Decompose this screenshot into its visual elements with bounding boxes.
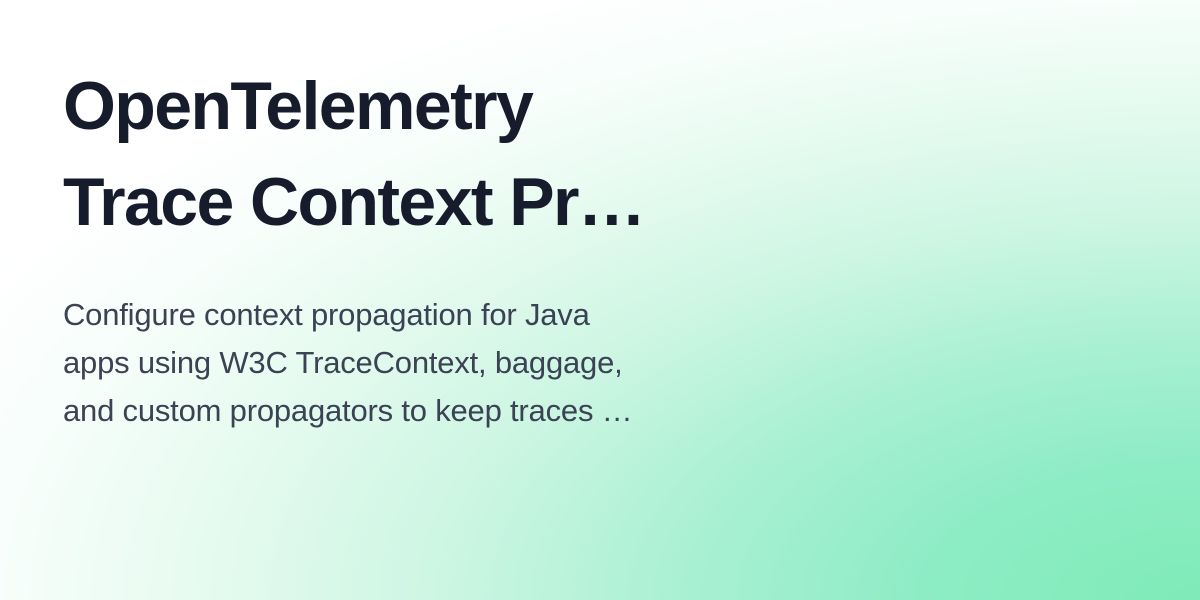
- page-description: Configure context propagation for Java a…: [63, 291, 763, 435]
- page-title: OpenTelemetry Trace Context Pr…: [63, 58, 763, 250]
- social-preview-card: OpenTelemetry Trace Context Pr… Configur…: [0, 0, 1200, 600]
- card-content: OpenTelemetry Trace Context Pr… Configur…: [63, 0, 763, 600]
